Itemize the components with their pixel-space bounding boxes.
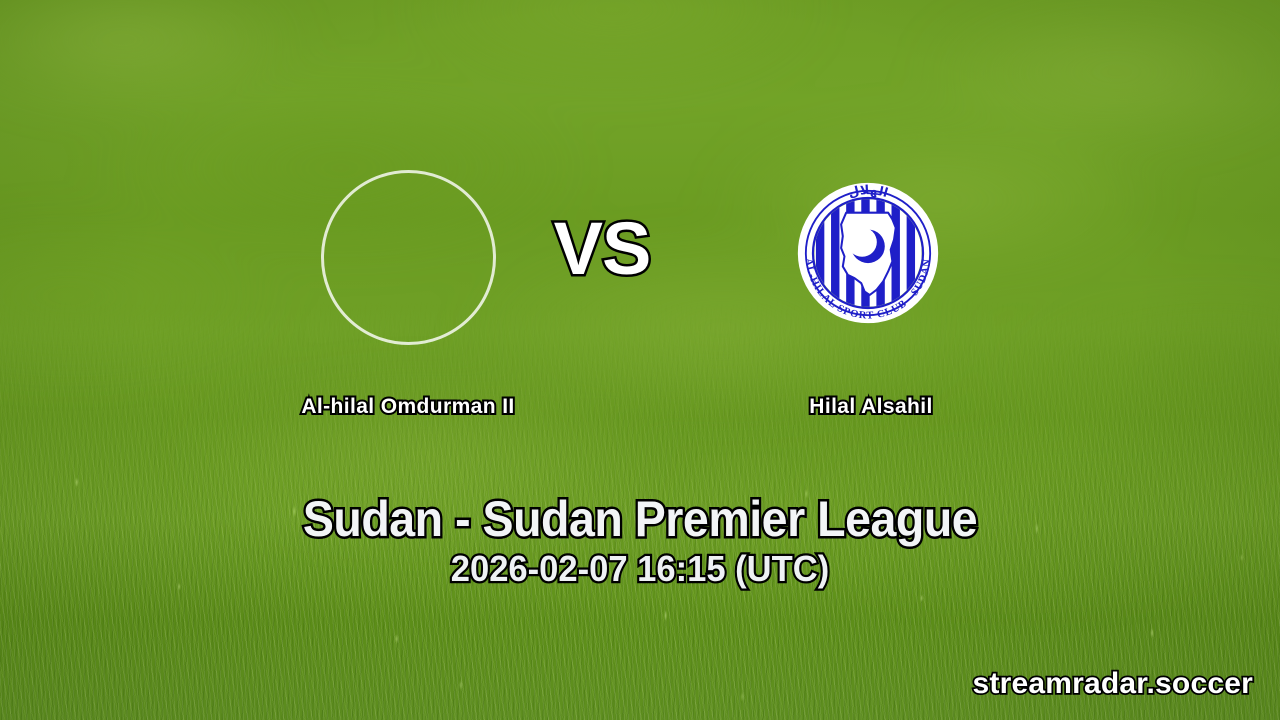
kickoff-datetime: 2026-02-07 16:15 (UTC) [26, 551, 1255, 587]
match-content: AL-HILAL SPORT CLUB - SUDAN الهلال VS Al… [0, 0, 1280, 720]
versus-label: VS [0, 212, 1242, 286]
away-team-name: Hilal Alsahil [571, 396, 1171, 417]
site-watermark: streamradar.soccer [973, 669, 1253, 699]
competition-title: Sudan - Sudan Premier League [45, 494, 1235, 544]
match-preview-card: AL-HILAL SPORT CLUB - SUDAN الهلال VS Al… [0, 0, 1280, 720]
